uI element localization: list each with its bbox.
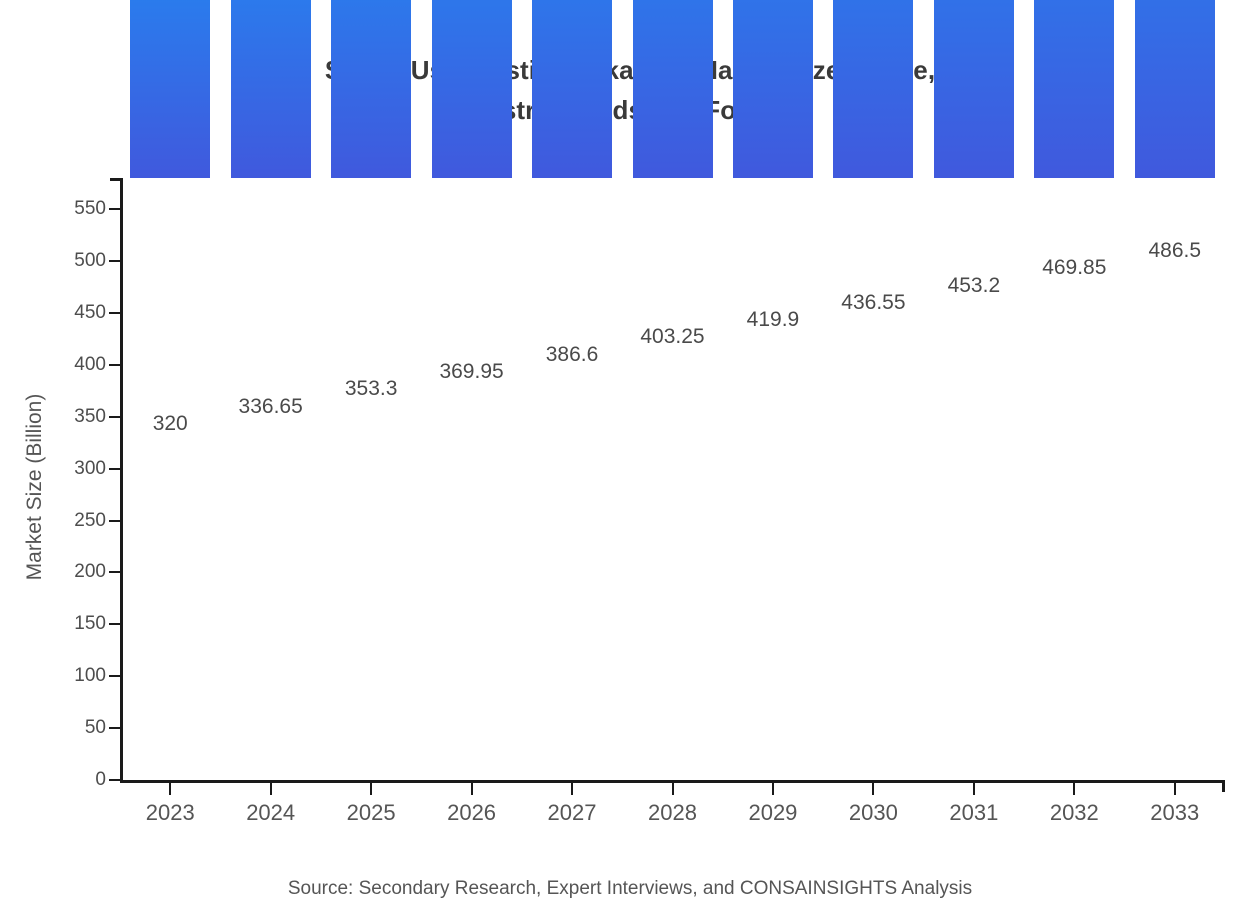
x-tick-label: 2033 (1105, 800, 1245, 826)
bar[interactable] (934, 0, 1014, 178)
y-tick-label: 300 (0, 458, 106, 480)
x-tick-mark (872, 783, 874, 795)
y-tick-label: 150 (0, 613, 106, 635)
bar[interactable] (733, 0, 813, 178)
bar[interactable] (331, 0, 411, 178)
y-tick-mark (109, 520, 120, 522)
y-tick-mark (109, 312, 120, 314)
y-tick-label: 100 (0, 665, 106, 687)
y-tick-mark (109, 260, 120, 262)
y-tick-mark (109, 727, 120, 729)
bar[interactable] (130, 0, 210, 178)
bar[interactable] (833, 0, 913, 178)
x-axis-right-cap (1222, 780, 1225, 792)
bar[interactable] (1135, 0, 1215, 178)
bar[interactable] (231, 0, 311, 178)
x-tick-mark (1174, 783, 1176, 795)
x-tick-mark (973, 783, 975, 795)
bar-chart: Single Use Plastic Packaging Market Size… (0, 0, 1260, 920)
y-tick-label: 400 (0, 354, 106, 376)
bar[interactable] (432, 0, 512, 178)
y-tick-mark (109, 468, 120, 470)
source-note: Source: Secondary Research, Expert Inter… (0, 878, 1260, 900)
bar[interactable] (1034, 0, 1114, 178)
y-tick-mark (109, 208, 120, 210)
plot-area: 050100150200250300350400450500550 202320… (120, 178, 1225, 780)
x-tick-mark (571, 783, 573, 795)
x-tick-mark (370, 783, 372, 795)
y-tick-mark (109, 364, 120, 366)
y-axis-top-cap (110, 178, 120, 181)
y-tick-label: 0 (0, 769, 106, 791)
x-tick-mark (471, 783, 473, 795)
x-tick-mark (672, 783, 674, 795)
bar[interactable] (532, 0, 612, 178)
y-tick-label: 450 (0, 302, 106, 324)
y-axis-title: Market Size (Billion) (23, 337, 47, 637)
y-tick-label: 200 (0, 561, 106, 583)
y-tick-mark (109, 571, 120, 573)
y-tick-mark (109, 779, 120, 781)
y-tick-label: 500 (0, 250, 106, 272)
y-axis-line (120, 178, 123, 780)
bar[interactable] (633, 0, 713, 178)
y-tick-mark (109, 675, 120, 677)
x-tick-mark (772, 783, 774, 795)
x-tick-mark (169, 783, 171, 795)
y-tick-label: 50 (0, 717, 106, 739)
bar-value-label: 486.5 (1095, 239, 1255, 263)
y-tick-mark (109, 623, 120, 625)
y-tick-label: 250 (0, 510, 106, 532)
x-tick-mark (270, 783, 272, 795)
x-tick-mark (1073, 783, 1075, 795)
y-tick-label: 550 (0, 198, 106, 220)
